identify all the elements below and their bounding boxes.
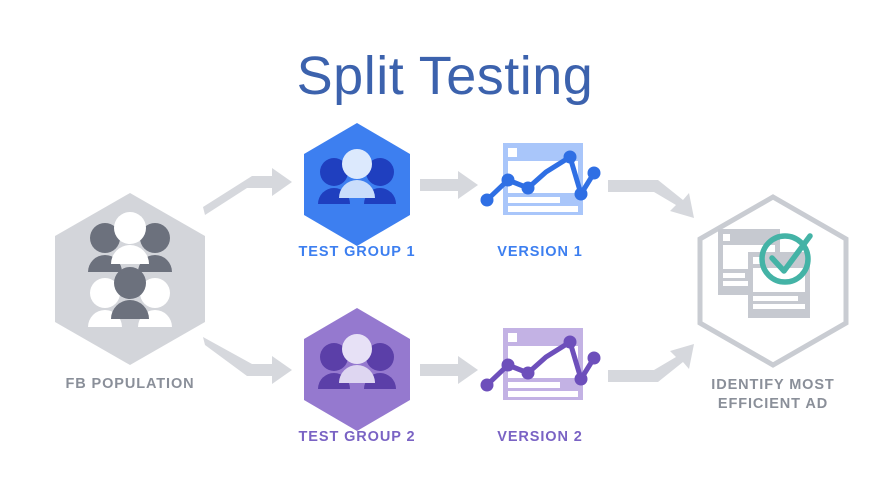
arrow-group1-to-version1 <box>420 171 478 199</box>
test-group-1-label: TEST GROUP 1 <box>299 244 416 260</box>
arrow-version2-to-result <box>608 344 694 382</box>
line-chart-card-icon <box>481 328 601 400</box>
split-testing-infographic: Split Testing <box>0 0 890 500</box>
node-identify-most-efficient-ad[interactable]: IDENTIFY MOST EFFICIENT AD <box>700 197 846 412</box>
test-group-2-label: TEST GROUP 2 <box>299 429 416 445</box>
population-label: FB POPULATION <box>65 376 194 392</box>
node-version-2[interactable]: VERSION 2 <box>481 328 601 445</box>
node-test-group-1[interactable]: TEST GROUP 1 <box>299 123 416 260</box>
version-2-label: VERSION 2 <box>497 429 582 445</box>
node-test-group-2[interactable]: TEST GROUP 2 <box>299 308 416 445</box>
arrow-population-to-group2 <box>203 337 292 384</box>
arrow-population-to-group1 <box>203 168 292 215</box>
node-fb-population[interactable]: FB POPULATION <box>55 193 205 392</box>
version-1-label: VERSION 1 <box>497 244 582 260</box>
page-title: Split Testing <box>297 46 594 106</box>
line-chart-card-icon <box>481 143 601 215</box>
node-version-1[interactable]: VERSION 1 <box>481 143 601 260</box>
documents-check-icon <box>718 229 810 318</box>
arrow-group2-to-version2 <box>420 356 478 384</box>
arrow-version1-to-result <box>608 180 694 218</box>
result-label-line-1: IDENTIFY MOST <box>711 377 834 393</box>
result-label-line-2: EFFICIENT AD <box>718 396 828 412</box>
diagram-canvas: Split Testing <box>0 0 890 500</box>
